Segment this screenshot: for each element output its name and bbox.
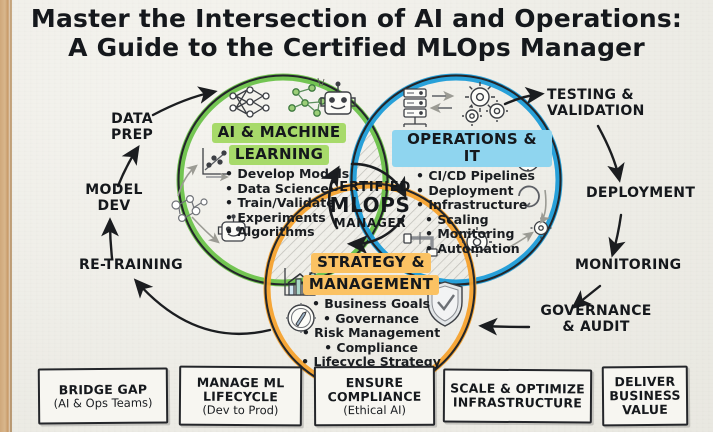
node-graph-icon: [289, 78, 325, 116]
strategy-bullet-4: • Compliance: [283, 341, 459, 356]
ensure-compliance-subtitle: (Ethical AI): [343, 403, 406, 416]
infographic-canvas: Master the Intersection of AI and Operat…: [0, 0, 713, 432]
bridge-gap-title: BRIDGE GAP: [59, 382, 148, 397]
governance-line-2: & AUDIT: [529, 320, 663, 336]
governance-line-1: GOVERNANCE: [529, 304, 663, 320]
center-line-2: MLOPS: [316, 195, 424, 216]
model-dev-line-1: MODEL: [74, 183, 154, 199]
callout-box-scale-optimize-infrastructure[interactable]: SCALE & OPTIMIZE INFRASTRUCTURE: [443, 368, 592, 423]
ops-bullet-2: • Deployment: [416, 184, 552, 199]
paper-edge-line: [10, 0, 12, 432]
ensure-compliance-title: ENSURE COMPLIANCE: [327, 375, 421, 403]
ops-bullet-3: • Infrastructure: [416, 198, 552, 213]
ops-bullet-1: • CI/CD Pipelines: [416, 169, 552, 184]
server-stack-icon: [404, 89, 426, 127]
callout-box-deliver-business-value[interactable]: DELIVER BUSINESS VALUE: [602, 366, 689, 427]
model-dev-line-2: DEV: [74, 199, 154, 215]
manage-ml-subtitle: (Dev to Prod): [202, 403, 278, 417]
title-line-2: A Guide to the Certified MLOps Manager: [0, 33, 713, 62]
strategy-heading-line-2: MANAGEMENT: [303, 275, 439, 295]
bottom-callout-row: BRIDGE GAP (AI & Ops Teams) MANAGE ML LI…: [0, 364, 713, 426]
ai-heading-line-2: LEARNING: [229, 145, 329, 165]
flow-label-model-dev: MODEL DEV: [74, 183, 154, 214]
callout-box-manage-ml-lifecycle[interactable]: MANAGE ML LIFECYCLE (Dev to Prod): [179, 366, 302, 427]
monitoring-line-1: MONITORING: [575, 258, 697, 274]
deliver-value-title: DELIVER BUSINESS VALUE: [609, 375, 681, 418]
scale-optimize-title: SCALE & OPTIMIZE INFRASTRUCTURE: [450, 382, 585, 411]
strategy-heading-line-1: STRATEGY &: [311, 253, 431, 273]
flow-label-data-prep: DATA PREP: [96, 112, 168, 143]
strategy-bullet-2: • Governance: [283, 312, 459, 327]
data-prep-line-2: PREP: [96, 128, 168, 144]
manage-ml-title: MANAGE ML LIFECYCLE: [197, 375, 285, 404]
title-line-1: Master the Intersection of AI and Operat…: [31, 4, 682, 33]
testing-line-1: TESTING &: [547, 88, 683, 104]
flow-label-re-training: RE-TRAINING: [68, 258, 194, 274]
flow-label-monitoring: MONITORING: [575, 258, 697, 274]
testing-line-2: VALIDATION: [547, 104, 683, 120]
flow-label-governance-audit: GOVERNANCE & AUDIT: [529, 304, 663, 335]
ai-heading-line-1: AI & MACHINE: [212, 123, 347, 143]
strategy-bullet-3: • Risk Management: [283, 326, 459, 341]
callout-box-ensure-compliance[interactable]: ENSURE COMPLIANCE (Ethical AI): [314, 366, 435, 427]
strategy-bullet-1: • Business Goals: [283, 297, 459, 312]
center-label-certified-mlops-manager: CERTIFIED MLOPS MANAGER: [316, 180, 424, 230]
re-training-line-1: RE-TRAINING: [68, 258, 194, 274]
deployment-line-1: DEPLOYMENT: [586, 186, 706, 202]
flow-label-deployment: DEPLOYMENT: [586, 186, 706, 202]
page-title: Master the Intersection of AI and Operat…: [0, 4, 713, 62]
callout-box-bridge-gap[interactable]: BRIDGE GAP (AI & Ops Teams): [38, 367, 168, 424]
center-line-3: MANAGER: [316, 216, 424, 230]
exchange-arrows-icon: [432, 96, 452, 108]
ops-bullet-5: • Monitoring: [416, 227, 552, 242]
bridge-gap-subtitle: (AI & Ops Teams): [54, 396, 153, 410]
data-prep-line-1: DATA: [96, 112, 168, 128]
ops-bullet-4: • Scaling: [416, 213, 552, 228]
flow-label-testing-validation: TESTING & VALIDATION: [547, 88, 683, 119]
ops-heading-line-1: OPERATIONS & IT: [392, 130, 552, 167]
